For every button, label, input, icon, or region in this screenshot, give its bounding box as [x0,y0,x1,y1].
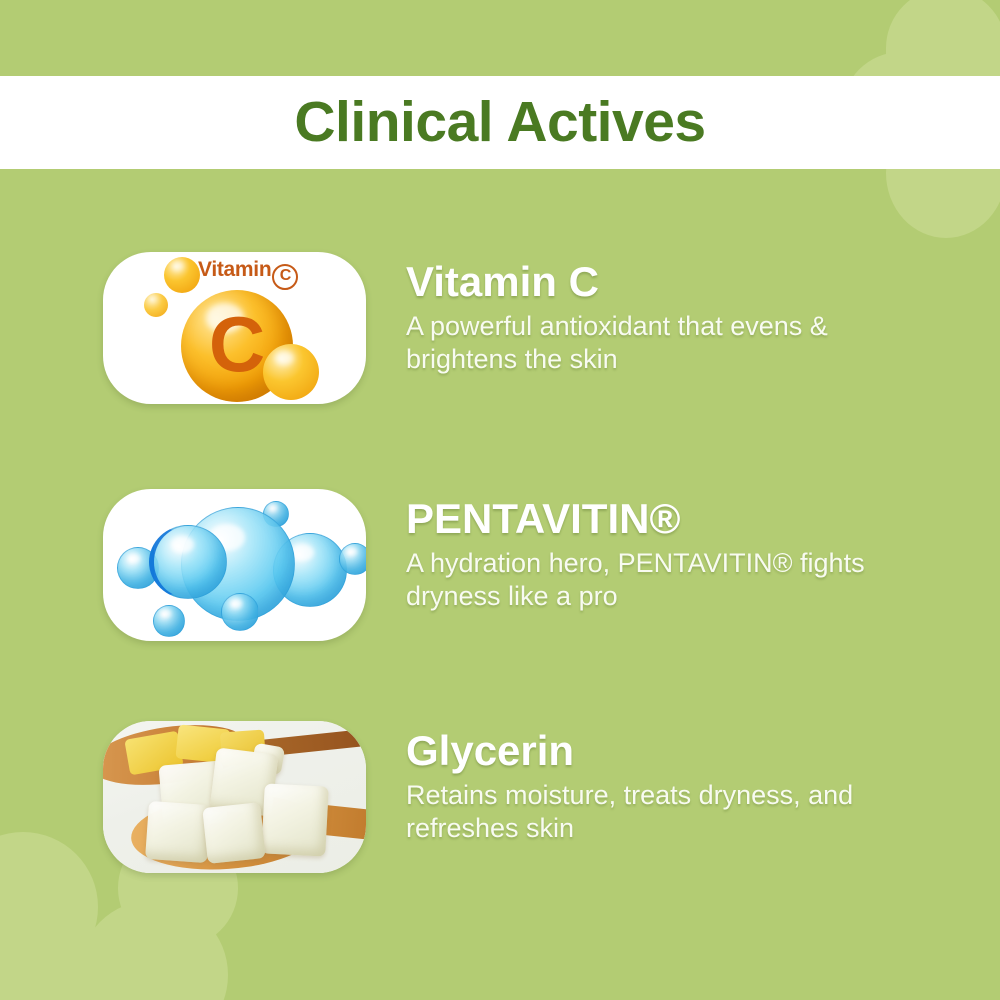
ingredient-description: A powerful antioxidant that evens & brig… [406,310,926,376]
bubble-icon [339,543,366,575]
clinical-actives-poster: Clinical Actives C VitaminC Vitamin C A … [0,0,1000,1000]
ingredient-image-card-pentavitin [103,489,366,641]
ingredient-row: PENTAVITIN® A hydration hero, PENTAVITIN… [0,489,1000,643]
ingredient-name: Vitamin C [406,260,946,304]
gel-cube-icon [261,783,329,856]
vitamin-c-sphere-small-icon [164,257,200,293]
bubble-icon [221,593,259,631]
vitamin-c-sphere-tiny-icon [144,293,168,317]
ingredient-image-card-glycerin [103,721,366,873]
ingredient-text-pentavitin: PENTAVITIN® A hydration hero, PENTAVITIN… [406,489,946,613]
vitamin-c-sphere-large-icon: C [181,290,293,402]
decorative-blob-bottom-left [0,930,130,1000]
ingredient-row: C VitaminC Vitamin C A powerful antioxid… [0,252,1000,406]
ingredient-description: A hydration hero, PENTAVITIN® fights dry… [406,547,926,613]
ingredient-text-glycerin: Glycerin Retains moisture, treats drynes… [406,721,946,845]
page-title: Clinical Actives [294,94,705,151]
gel-cube-icon [145,801,211,863]
ingredient-text-vitamin-c: Vitamin C A powerful antioxidant that ev… [406,252,946,376]
bubble-icon [153,605,185,637]
vitamin-c-badge-word: Vitamin [198,258,271,281]
title-band: Clinical Actives [0,76,1000,169]
vitamin-c-letter: C [181,290,293,402]
vitamin-c-badge-mark: C [272,264,298,290]
decorative-blob-bottom-left [78,900,228,1000]
ingredient-name: Glycerin [406,729,946,773]
glycerin-gel-cubes-icon [103,721,366,873]
ingredient-name: PENTAVITIN® [406,497,946,541]
ingredient-image-card-vitamin-c: C VitaminC [103,252,366,404]
hydration-bubbles-icon [103,489,366,641]
vitamin-c-badge-label: VitaminC [198,258,298,290]
bubble-icon [149,525,227,599]
gel-cube-icon [202,802,266,864]
ingredient-row: Glycerin Retains moisture, treats drynes… [0,721,1000,875]
vitamin-c-molecule-icon: C VitaminC [103,252,366,404]
ingredient-description: Retains moisture, treats dryness, and re… [406,779,926,845]
